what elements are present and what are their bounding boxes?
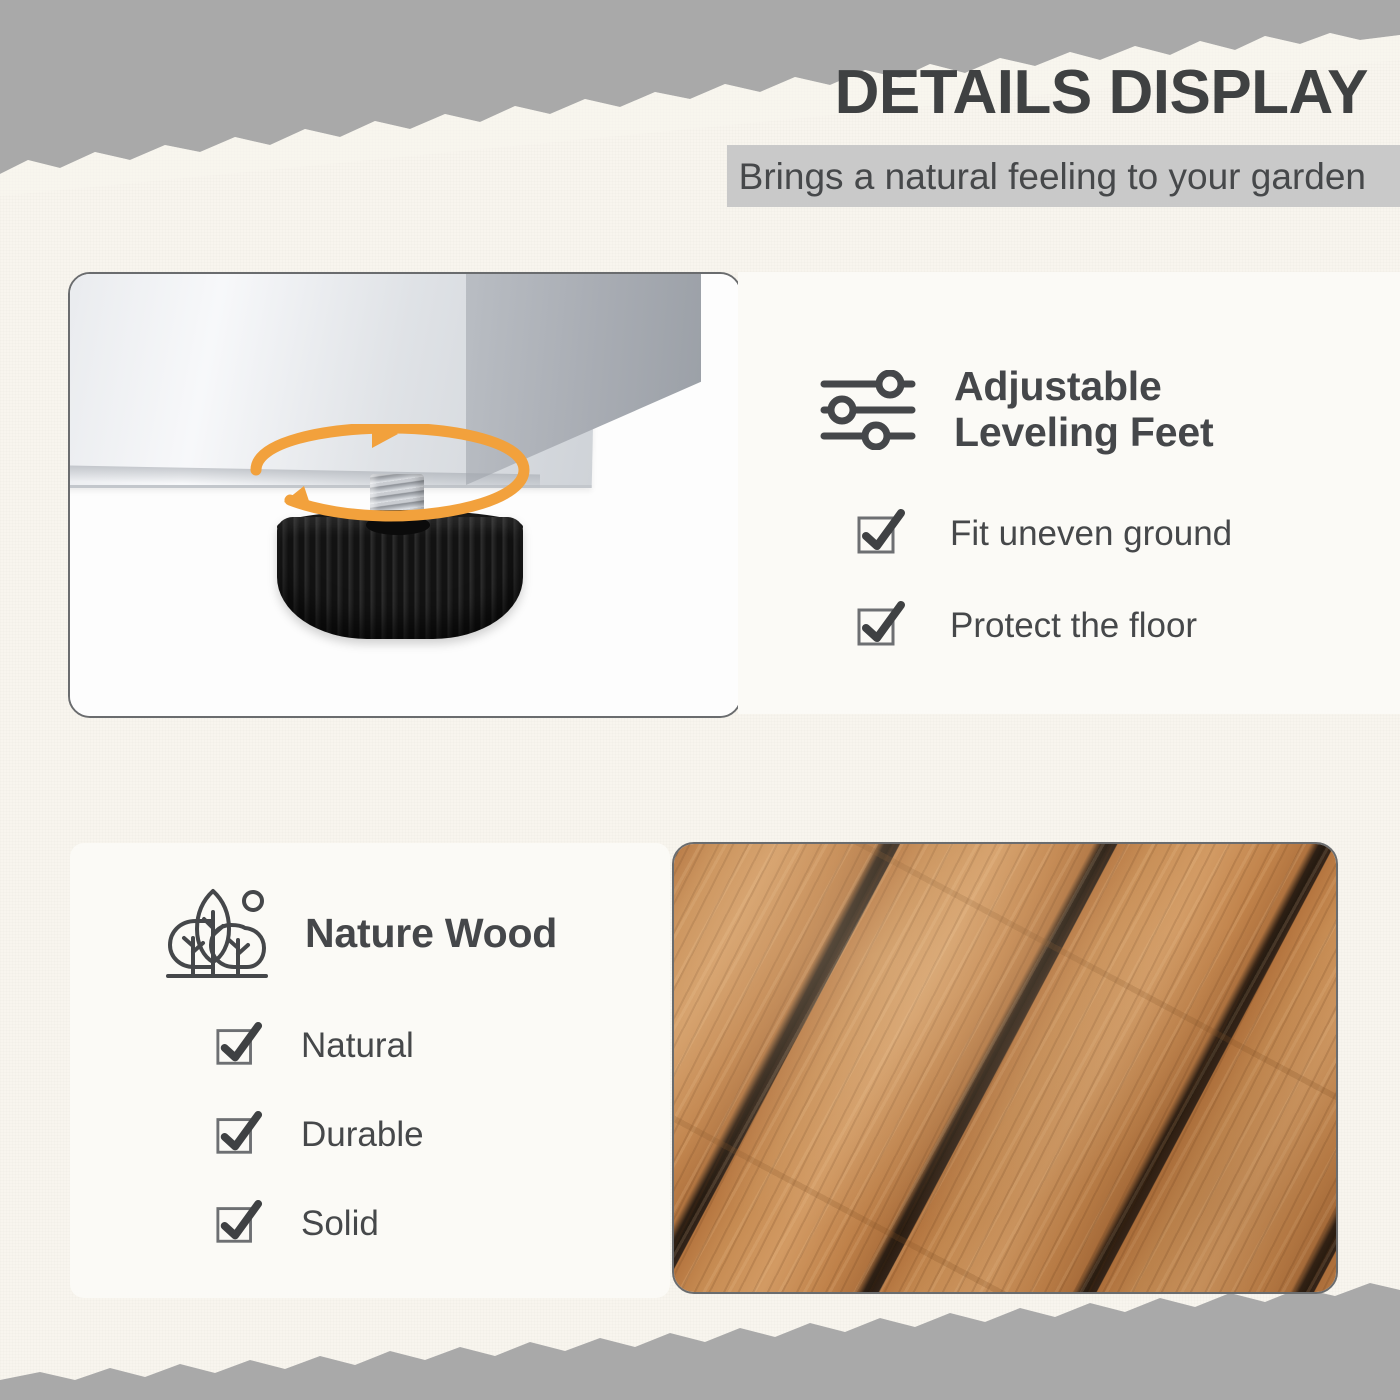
feature-bullets-leveling-feet: Fit uneven ground Protect the floor [856, 508, 1232, 692]
feature-title-line1: Nature Wood [305, 911, 557, 957]
list-item: Fit uneven ground [856, 508, 1232, 558]
list-item: Durable [215, 1110, 424, 1158]
checkbox-checked-icon [215, 1110, 263, 1158]
list-item-label: Solid [301, 1206, 379, 1241]
list-item-label: Natural [301, 1028, 414, 1063]
feature-title-leveling-feet: Adjustable Leveling Feet [954, 364, 1213, 456]
feature-title-nature-wood: Nature Wood [305, 911, 557, 957]
feature-title-line1: Adjustable [954, 364, 1213, 410]
list-item-label: Protect the floor [950, 608, 1197, 643]
wood-lighting-sheen [674, 844, 1336, 1292]
page-title: DETAILS DISPLAY [835, 62, 1368, 124]
feature-heading-leveling-feet: Adjustable Leveling Feet [820, 364, 1213, 456]
adjustable-leveling-foot-photo [68, 272, 742, 718]
checkbox-checked-icon [856, 600, 906, 650]
feature-title-line2: Leveling Feet [954, 410, 1213, 456]
feature-heading-nature-wood: Nature Wood [165, 888, 557, 980]
checkbox-checked-icon [856, 508, 906, 558]
page-header: DETAILS DISPLAY Brings a natural feeling… [0, 40, 1400, 240]
list-item-label: Durable [301, 1117, 424, 1152]
sliders-icon [820, 370, 916, 450]
list-item: Solid [215, 1199, 424, 1247]
trees-icon [165, 888, 269, 980]
list-item: Natural [215, 1021, 424, 1069]
acacia-wood-slats-photo [672, 842, 1338, 1294]
adjustable-leveling-feet-card: Adjustable Leveling Feet Fit uneven grou… [738, 272, 1400, 714]
checkbox-checked-icon [215, 1199, 263, 1247]
feature-bullets-nature-wood: Natural Durable Solid [215, 1021, 424, 1288]
page-subtitle: Brings a natural feeling to your garden [739, 158, 1366, 195]
nature-wood-card: Nature Wood Natural Durable [70, 843, 670, 1298]
rotation-arrow-icon [220, 424, 560, 554]
checkbox-checked-icon [215, 1021, 263, 1069]
list-item-label: Fit uneven ground [950, 516, 1232, 551]
details-display-page: DETAILS DISPLAY Brings a natural feeling… [0, 0, 1400, 1400]
list-item: Protect the floor [856, 600, 1232, 650]
